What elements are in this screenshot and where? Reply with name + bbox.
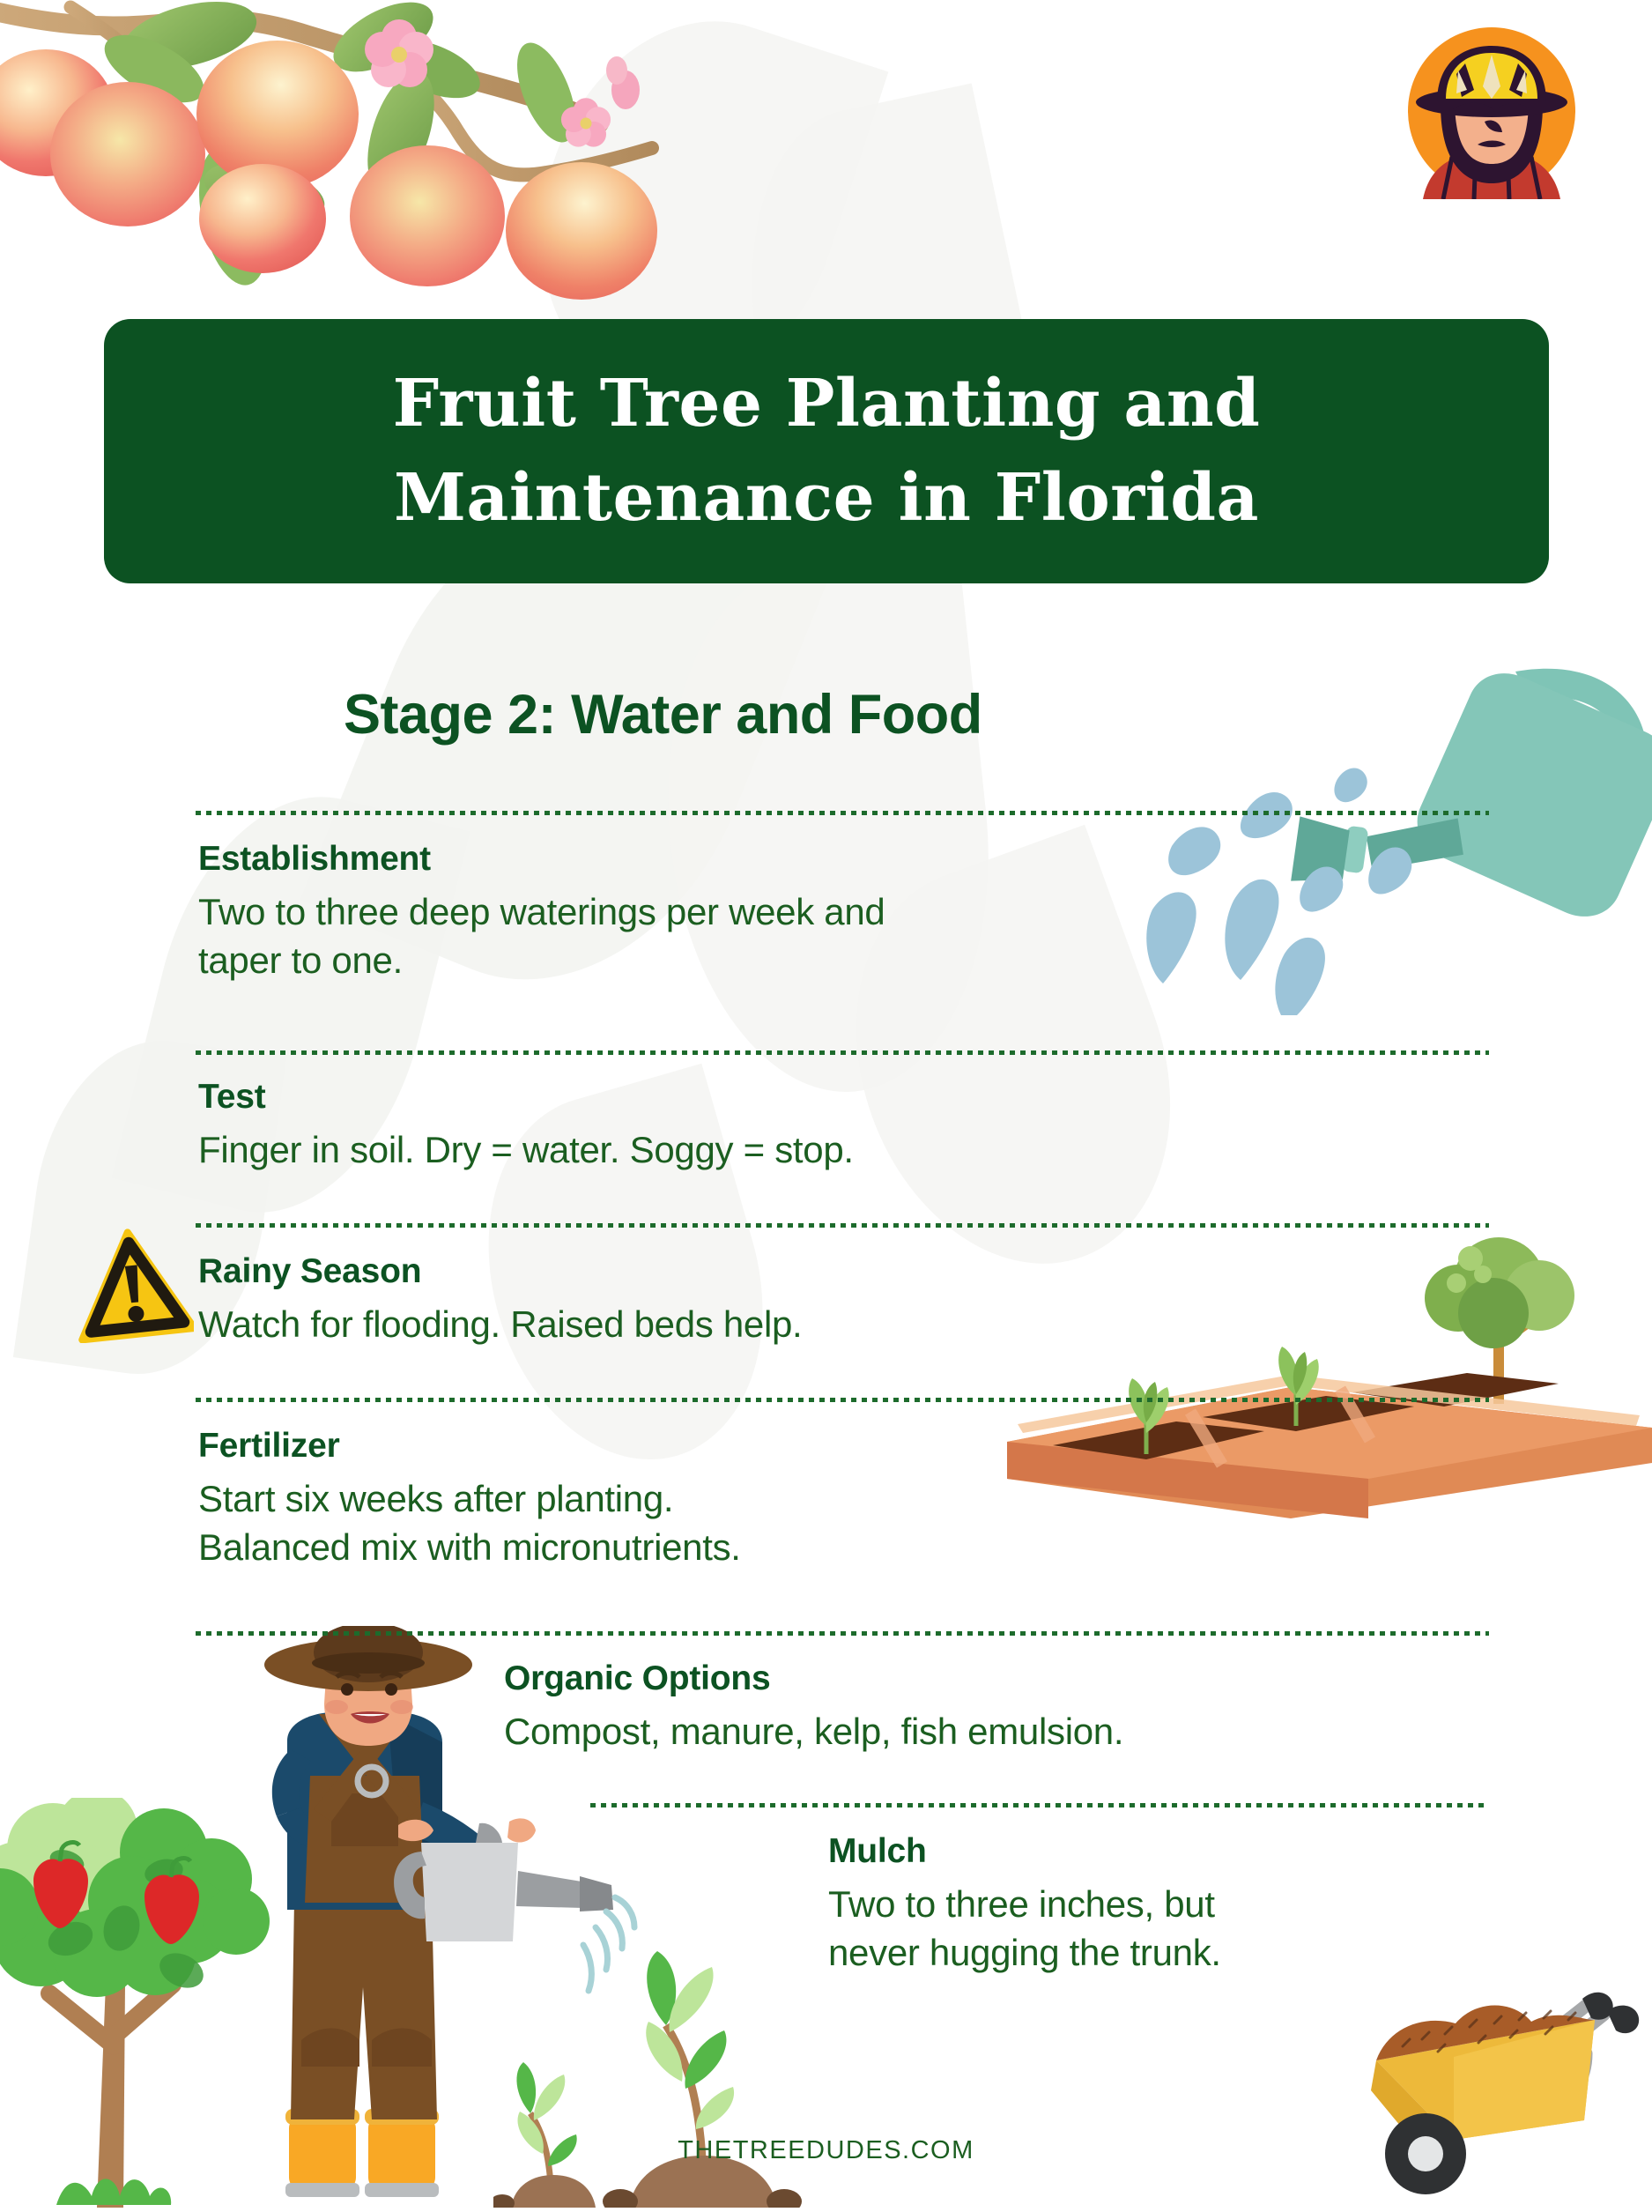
divider-1 (196, 1050, 1489, 1055)
section-mulch: Mulch Two to three inches, but never hug… (828, 1831, 1498, 1978)
footer-url: THETREEDUDES.COM (0, 2136, 1652, 2165)
section-establishment: Establishment Two to three deep watering… (198, 839, 1300, 985)
section-body-line-1: Two to three deep waterings per week and (198, 887, 1300, 936)
content-list: Establishment Two to three deep watering… (0, 0, 1652, 2203)
section-heading: Test (198, 1077, 1300, 1118)
warning-triangle-icon (72, 1227, 194, 1343)
section-test: Test Finger in soil. Dry = water. Soggy … (198, 1077, 1300, 1174)
section-body-line-2: never hugging the trunk. (828, 1928, 1498, 1977)
section-organic-options: Organic Options Compost, manure, kelp, f… (504, 1659, 1491, 1755)
section-body-line-1: Two to three inches, but (828, 1880, 1498, 1928)
section-body-line-1: Compost, manure, kelp, fish emulsion. (504, 1707, 1491, 1755)
divider-2 (196, 1223, 1489, 1228)
divider-top (196, 811, 1489, 815)
divider-5 (590, 1803, 1489, 1807)
divider-4 (196, 1631, 1489, 1636)
section-heading: Rainy Season (198, 1251, 1300, 1293)
section-body-line-2: Balanced mix with micronutrients. (198, 1523, 1300, 1571)
lumberjack-badge-logo (1404, 23, 1580, 199)
section-heading: Fertilizer (198, 1426, 1300, 1467)
section-body-line-2: taper to one. (198, 936, 1300, 984)
section-heading: Establishment (198, 839, 1300, 880)
section-fertilizer: Fertilizer Start six weeks after plantin… (198, 1426, 1300, 1572)
section-body-line-1: Watch for flooding. Raised beds help. (198, 1300, 1300, 1348)
divider-3 (196, 1398, 1489, 1402)
section-heading: Organic Options (504, 1659, 1491, 1700)
section-rainy-season: Rainy Season Watch for flooding. Raised … (198, 1251, 1300, 1348)
section-body-line-1: Finger in soil. Dry = water. Soggy = sto… (198, 1125, 1300, 1174)
section-heading: Mulch (828, 1831, 1498, 1873)
section-body-line-1: Start six weeks after planting. (198, 1474, 1300, 1523)
